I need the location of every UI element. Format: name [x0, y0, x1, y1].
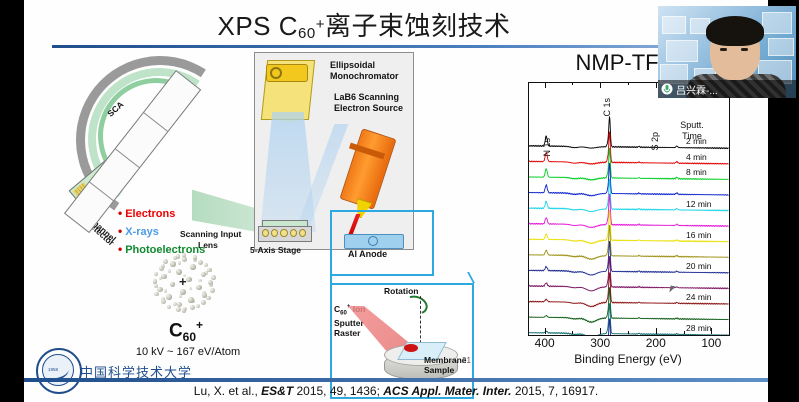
- anode-label: Al Anode: [348, 249, 387, 259]
- membrane-sample-label: Membrane Sample: [424, 355, 467, 375]
- title-subscript: 60: [298, 25, 316, 42]
- logo-year: 1958: [48, 367, 58, 372]
- legend-bullet-icon: •: [118, 206, 122, 220]
- citation-vol-2: 2015, 7, 16917.: [511, 384, 598, 398]
- x-tick: [545, 328, 546, 334]
- stage-knobs: [262, 229, 306, 237]
- membrane-line2: Sample: [424, 365, 454, 375]
- peak-label-n1s: N 1s: [542, 138, 552, 157]
- instrument-diagram: SCA Multi Channel Detector Scanning Inpu…: [32, 50, 502, 350]
- screen-root: XPS C60+离子束蚀刻技术 SCA Multi Channel Detect…: [0, 0, 799, 402]
- stage-label: 5-Axis Stage: [250, 246, 301, 256]
- x-tick-label: 400: [525, 336, 565, 350]
- inset-connector-left: [330, 272, 332, 283]
- citation-journal-1: ES&T: [261, 384, 293, 398]
- x-minor-tick: [572, 331, 573, 334]
- slide-number: 21: [462, 356, 471, 365]
- electron-source-label-line1: LaB6 Scanning: [334, 92, 399, 102]
- c60-symbol: C: [169, 320, 183, 341]
- slide-canvas: XPS C60+离子束蚀刻技术 SCA Multi Channel Detect…: [24, 0, 768, 402]
- participant-hair: [706, 16, 764, 46]
- sputter-time-label: 4 min: [686, 152, 707, 162]
- beam-energy-label: 10 kV ~ 167 eV/Atom: [108, 346, 268, 358]
- c60-subscript: 60: [183, 330, 196, 344]
- x-minor-tick: [628, 331, 629, 334]
- x-tick: [600, 328, 601, 334]
- page-title: XPS C60+离子束蚀刻技术: [24, 6, 704, 43]
- electron-source-label-line2: Electron Source: [334, 103, 403, 113]
- sputter-line2: Sputter: [334, 318, 364, 328]
- x-tick-top: [545, 82, 546, 88]
- title-superscript: +: [316, 16, 325, 33]
- sputter-time-label: 8 min: [686, 167, 707, 177]
- legend-label-electrons: Electrons: [125, 208, 175, 220]
- x-tick-top: [656, 82, 657, 88]
- x-minor-tick-top: [572, 82, 573, 85]
- participant-video-tile[interactable]: 吕兴霖-...: [658, 6, 796, 98]
- x-axis-title: Binding Energy (eV): [510, 352, 746, 366]
- title-prefix: XPS C: [218, 11, 299, 41]
- x-tick-label: 100: [691, 336, 731, 350]
- participant-name-bar: 吕兴霖-...: [658, 80, 796, 98]
- legend-bullet-icon: •: [118, 242, 122, 256]
- inset-connector-right: [427, 272, 475, 283]
- x-tick: [656, 328, 657, 334]
- legend-bullet-icon: •: [118, 224, 122, 238]
- x-tick-label: 300: [580, 336, 620, 350]
- citation-vol-1: 2015, 49, 1436;: [293, 384, 383, 398]
- monochromator-label-line2: Monochromator: [330, 71, 399, 81]
- sputter-time-label: 24 min: [686, 292, 712, 302]
- peak-label-s2p: S 2p: [650, 132, 660, 151]
- c60-formula: C60+: [136, 318, 236, 344]
- sputter-time-label: 20 min: [686, 261, 712, 271]
- footer-divider: [24, 378, 768, 382]
- citation-text: Lu, X. et al., ES&T 2015, 49, 1436; ACS …: [24, 384, 768, 398]
- anode-spot-icon: [368, 236, 378, 246]
- x-tick-top: [600, 82, 601, 88]
- title-chinese: 离子束蚀刻技术: [325, 11, 511, 41]
- monochromator-aperture-icon: [270, 67, 282, 79]
- membrane-line1: Membrane: [424, 355, 467, 365]
- sputter-subscript: 60: [340, 311, 347, 317]
- legend-item-xrays: •X-rays: [118, 223, 205, 241]
- sputter-time-label: 2 min: [686, 136, 707, 146]
- c60-charge: +: [196, 318, 203, 332]
- participant-name: 吕兴霖-...: [676, 82, 718, 97]
- citation-authors: Lu, X. et al.,: [194, 384, 261, 398]
- x-minor-tick-top: [628, 82, 629, 85]
- sputter-line3: Raster: [334, 328, 360, 338]
- sputter-time-label: 16 min: [686, 230, 712, 240]
- microphone-icon: [661, 83, 673, 95]
- peak-label-c1s: C 1s: [602, 98, 612, 117]
- sputter-time-label: 28 min: [686, 323, 712, 333]
- sputter-impact-spot: [404, 344, 418, 352]
- legend-label-xrays: X-rays: [125, 226, 159, 238]
- c60-molecule-graphic: +: [148, 250, 220, 316]
- legend-title-line1: Sputt.: [680, 120, 704, 130]
- legend-item-electrons: •Electrons: [118, 205, 205, 223]
- sputter-time-label: 12 min: [686, 199, 712, 209]
- x-tick-label: 200: [636, 336, 676, 350]
- monochromator-label-line1: Ellipsoidal: [330, 60, 375, 70]
- citation-journal-2: ACS Appl. Mater. Inter.: [383, 384, 511, 398]
- x-minor-tick: [684, 331, 685, 334]
